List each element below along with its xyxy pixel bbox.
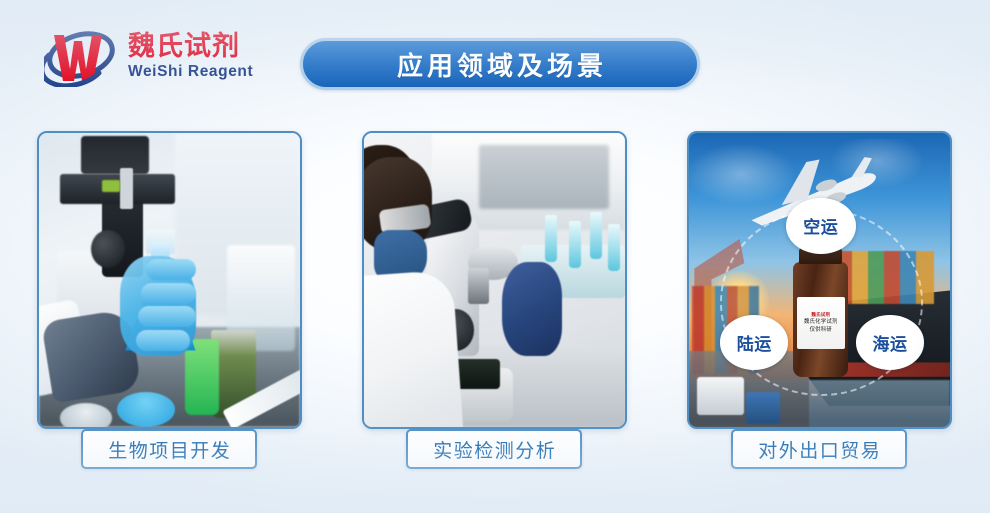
brand-logo[interactable]: 魏氏试剂 WeiShi Reagent [44,21,314,91]
caption-lab-testing-analysis-label: 实验检测分析 [432,436,557,463]
weishi-w-swoosh-logo-icon [44,25,118,87]
badge-air-freight: 空运 [786,198,856,254]
caption-export-trade: 对外出口贸易 [731,429,907,469]
badge-land-freight: 陆运 [720,315,788,369]
page-title-banner: 应用领域及场景 [300,38,700,90]
brand-name-en: WeiShi Reagent [128,64,253,80]
cards-row: 魏氏试剂 魏氏化学试剂 仅供科研 空运 陆运 海运 [0,131,990,431]
photo-export-trade: 魏氏试剂 魏氏化学试剂 仅供科研 空运 陆运 海运 [689,133,950,427]
slide-root: 魏氏试剂 WeiShi Reagent 应用领域及场景 [0,0,990,513]
bottle-label-line1: 魏氏化学试剂 [804,319,838,325]
page-title: 应用领域及场景 [393,46,607,83]
reagent-bottle: 魏氏试剂 魏氏化学试剂 仅供科研 [791,248,851,377]
badge-land-freight-label: 陆运 [737,330,772,355]
caption-export-trade-label: 对外出口贸易 [757,436,882,463]
reagent-bottle-label: 魏氏试剂 魏氏化学试剂 仅供科研 [797,297,845,349]
photo-lab-testing-analysis [364,133,625,427]
caption-bio-project-development-label: 生物项目开发 [107,436,232,463]
card-lab-testing-analysis[interactable] [362,131,627,429]
card-export-trade[interactable]: 魏氏试剂 魏氏化学试剂 仅供科研 空运 陆运 海运 [687,131,952,429]
card-bio-project-development[interactable] [37,131,302,429]
badge-sea-freight: 海运 [856,315,924,369]
badge-air-freight-label: 空运 [803,213,838,238]
badge-sea-freight-label: 海运 [872,330,907,355]
caption-lab-testing-analysis: 实验检测分析 [406,429,582,469]
caption-bio-project-development: 生物项目开发 [81,429,257,469]
bottle-label-line2: 仅供科研 [810,327,832,333]
brand-logo-text: 魏氏试剂 WeiShi Reagent [128,33,253,80]
brand-name-cn: 魏氏试剂 [128,33,253,60]
bottle-brand-text: 魏氏试剂 [811,312,830,318]
photo-bio-project-development [39,133,300,427]
